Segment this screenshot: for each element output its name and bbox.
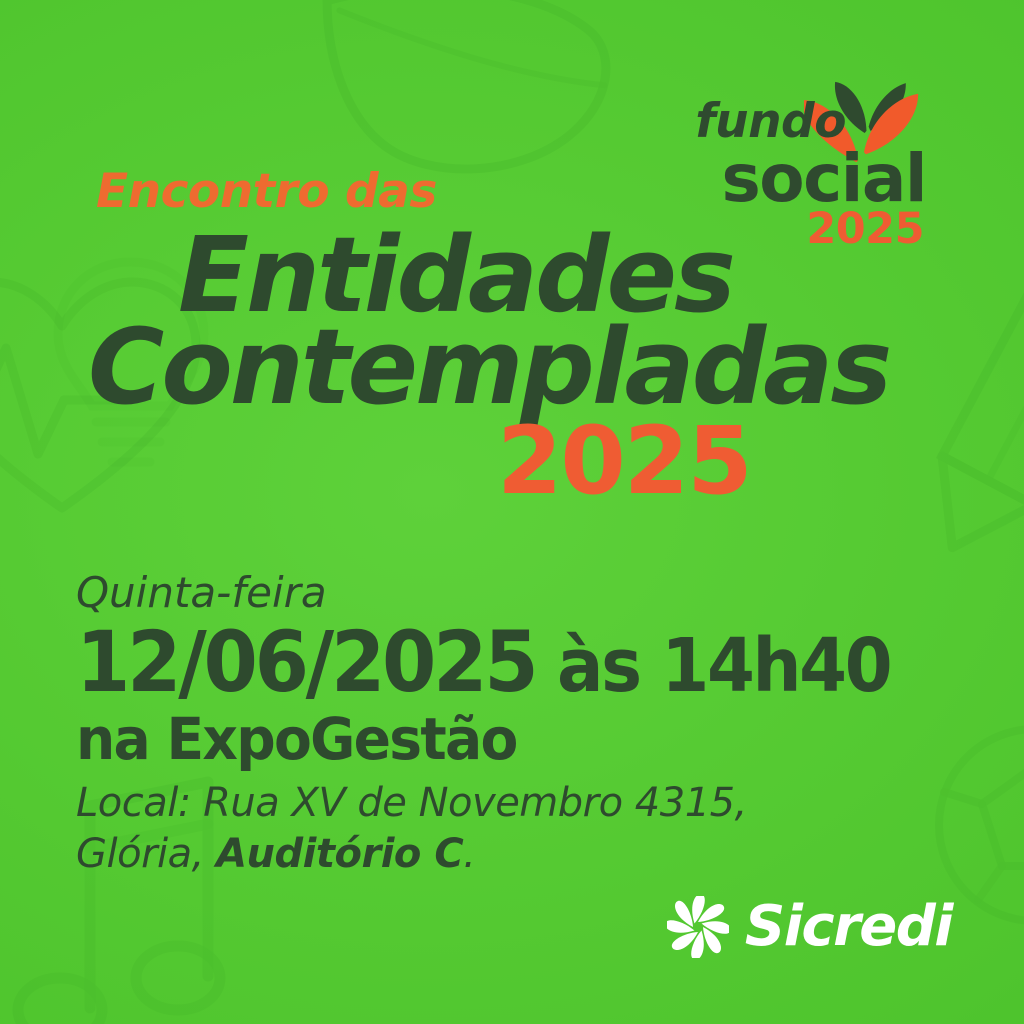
event-venue: na ExpoGestão	[76, 710, 931, 768]
event-time-prefix: às	[557, 623, 640, 709]
address-line-1: Local: Rua XV de Novembro 4315,	[76, 778, 776, 829]
address-period: .	[463, 831, 475, 877]
sicredi-wordmark: Sicredi	[745, 899, 952, 955]
event-poster: fundo social 2025 Encontro das Entidades…	[0, 0, 1024, 1024]
event-address: Local: Rua XV de Novembro 4315, Glória, …	[76, 778, 776, 880]
leaf-watermark	[315, 0, 622, 187]
headline-year: 2025	[497, 415, 800, 509]
event-date-time-row: 12/06/2025 às 14h40	[76, 620, 913, 706]
event-time: 14h40	[661, 623, 890, 709]
event-datetime-block: Quinta-feira 12/06/2025 às 14h40 na Expo…	[76, 572, 976, 768]
headline-block: Encontro das Entidades Contempladas 2025	[0, 168, 800, 509]
pinwheel-icon	[667, 896, 729, 958]
headline-title-line2: Contempladas	[88, 319, 800, 417]
event-date: 12/06/2025	[76, 613, 535, 711]
event-weekday: Quinta-feira	[76, 572, 976, 614]
headline-kicker: Encontro das	[96, 168, 800, 215]
address-line-2: Glória, Auditório C.	[76, 829, 776, 880]
logo-word-fundo: fundo	[682, 98, 932, 145]
address-hall: Auditório C	[216, 831, 463, 877]
sicredi-logo: Sicredi	[667, 896, 952, 958]
address-neighborhood: Glória,	[76, 831, 216, 877]
